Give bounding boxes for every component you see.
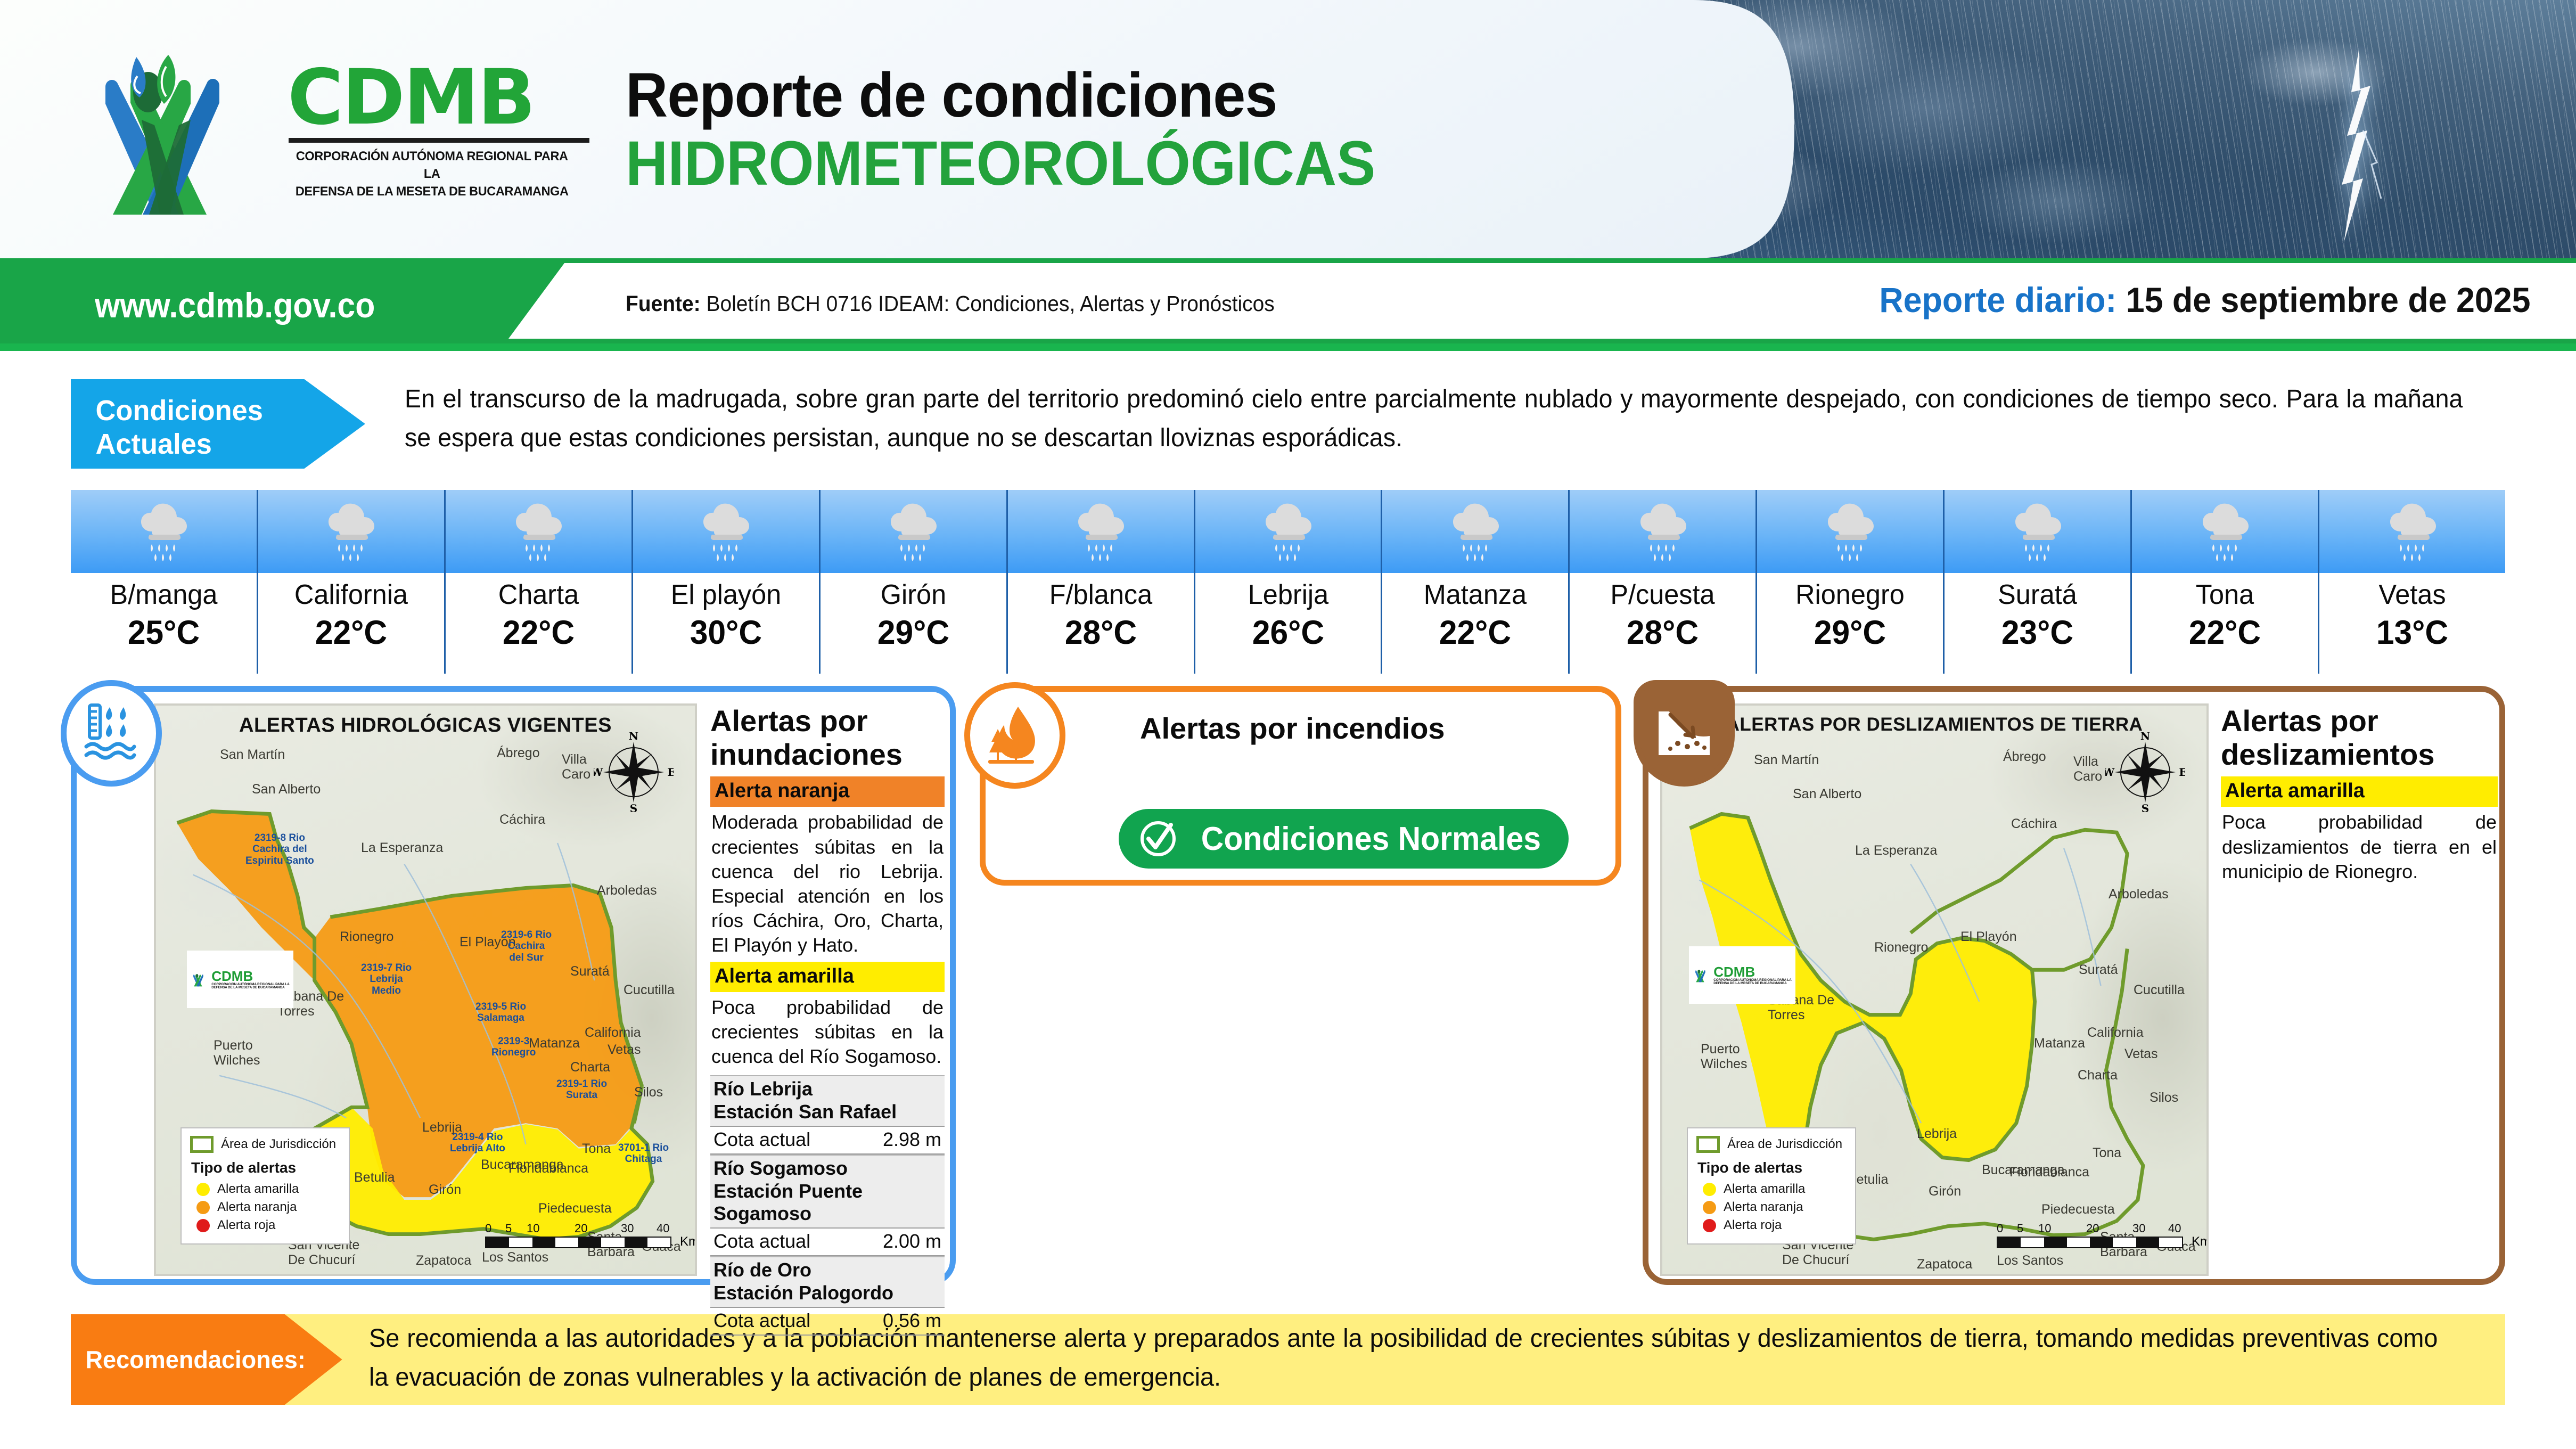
legend-dot-yellow <box>196 1183 210 1196</box>
map-city-label: Silos <box>2150 1090 2178 1106</box>
map-basin-label: 3701-1 RioChitaga <box>618 1142 669 1165</box>
station-row: Cota actual2.00 m <box>710 1227 945 1256</box>
scale-tick: 0 <box>1997 1222 2003 1235</box>
temperature-city: Lebrija <box>1198 579 1378 611</box>
map-basin-label: 2319-3Rionegro <box>491 1036 536 1059</box>
forest-fire-icon <box>985 703 1045 767</box>
map-city-label: Rionegro <box>1874 940 1928 955</box>
jurisdiction-swatch <box>1696 1136 1720 1153</box>
temperature-value: 23°C <box>1948 613 2127 652</box>
website-link[interactable]: www.cdmb.gov.co <box>95 285 375 325</box>
station-metric-value: 2.98 m <box>883 1128 941 1151</box>
temperature-city: Matanza <box>1385 579 1565 611</box>
flood-badge <box>61 680 162 787</box>
rain-cloud-icon <box>258 490 444 573</box>
logo-wordmark: CDMB <box>288 61 607 134</box>
current-conditions-text: En el transcurso de la madrugada, sobre … <box>405 380 2463 458</box>
map-city-label: Piedecuesta <box>2041 1202 2115 1217</box>
map-city-label: California <box>585 1025 641 1041</box>
scale-tick: 40 <box>657 1222 669 1235</box>
station-header: Río SogamosoEstación Puente Sogamoso <box>710 1155 945 1227</box>
rain-cloud-icon <box>2319 490 2505 573</box>
landslide-map-legend: Área de Jurisdicción Tipo de alertas Ale… <box>1687 1127 1856 1245</box>
svg-text:W: W <box>594 766 603 779</box>
landslide-alert-yellow-text: Poca probabilidad de deslizamientos de t… <box>2221 807 2498 888</box>
map-city-label: Charta <box>570 1060 610 1075</box>
legend-dot-orange <box>1703 1201 1716 1214</box>
water-level-gauge-icon <box>82 702 141 765</box>
current-conditions-tag: Condiciones Actuales <box>71 379 365 469</box>
rain-cloud-icon <box>446 490 631 573</box>
temperature-value: 22°C <box>2136 613 2314 652</box>
map-city-label: Vetas <box>608 1042 641 1058</box>
map-city-label: Arboledas <box>2109 887 2169 902</box>
map-city-label: Piedecuesta <box>538 1201 612 1216</box>
report-date-block: Reporte diario: 15 de septiembre de 2025 <box>1880 280 2531 320</box>
current-conditions-tag-line2: Actuales <box>96 428 365 461</box>
svg-text:E: E <box>2179 766 2185 779</box>
svg-text:S: S <box>630 802 637 812</box>
map-city-label: Charta <box>2078 1068 2118 1083</box>
temperature-value: 26°C <box>1199 613 1377 652</box>
map-city-label: Lebrija <box>1917 1126 1957 1142</box>
temperature-cell-gir-n: Girón29°C <box>819 490 1006 674</box>
temperature-cell-tona: Tona22°C <box>2130 490 2318 674</box>
temperature-cell-lebrija: Lebrija26°C <box>1194 490 1381 674</box>
map-basin-label: 2319-5 RioSalamaga <box>475 1001 526 1024</box>
temperature-city: Girón <box>823 579 1003 611</box>
landslide-map-scale: 0 5 10 20 30 40 Km <box>1997 1222 2183 1248</box>
station-metric-label: Cota actual <box>713 1309 810 1332</box>
station-metric-value: 2.00 m <box>883 1230 941 1252</box>
temperature-city: Charta <box>448 579 628 611</box>
current-conditions-section: Condiciones Actuales En el transcurso de… <box>0 373 2576 477</box>
map-city-label: Ábrego <box>497 746 540 761</box>
map-city-label: Arboledas <box>597 883 657 898</box>
legend-heading: Tipo de alertas <box>191 1159 340 1176</box>
legend-heading: Tipo de alertas <box>1697 1159 1847 1176</box>
fire-status-label: Condiciones Normales <box>1201 820 1541 858</box>
scale-unit: Km <box>680 1234 697 1249</box>
landslide-alert-yellow-label: Alerta amarilla <box>2221 776 2498 807</box>
station-row: Cota actual2.98 m <box>710 1126 945 1155</box>
legend-dot-orange <box>196 1201 210 1214</box>
cdmb-logo-mark-icon <box>1693 963 1711 987</box>
station-header: Río LebrijaEstación San Rafael <box>710 1075 945 1126</box>
flood-map-legend: Área de Jurisdicción Tipo de alertas Ale… <box>181 1127 350 1245</box>
cdmb-logo-mark-icon <box>191 968 209 991</box>
map-city-label: Girón <box>429 1182 461 1198</box>
svg-text:W: W <box>2105 766 2115 779</box>
scale-tick: 20 <box>2086 1222 2099 1235</box>
map-city-label: El Playón <box>1960 929 2017 945</box>
temperature-cell-california: California22°C <box>257 490 444 674</box>
fire-alerts-title: Alertas por incendios <box>1140 712 1445 746</box>
map-city-label: Matanza <box>2034 1036 2085 1051</box>
station-row: Cota actual0.56 m <box>710 1307 945 1336</box>
flood-alert-orange-text: Moderada probabilidad de crecientes súbi… <box>710 807 945 961</box>
temperature-cell-charta: Charta22°C <box>444 490 631 674</box>
temperature-value: 22°C <box>262 613 440 652</box>
temperature-value: 28°C <box>1012 613 1190 652</box>
temperature-city: El playón <box>636 579 816 611</box>
temperature-cell-rionegro: Rionegro29°C <box>1755 490 1943 674</box>
compass-rose-icon: N S E W <box>594 732 674 812</box>
scale-unit: Km <box>2192 1234 2209 1249</box>
river-station-table: Río LebrijaEstación San RafaelCota actua… <box>710 1075 945 1336</box>
scale-tick: 5 <box>505 1222 512 1235</box>
recommendations-section: Recomendaciones: Se recomienda a las aut… <box>71 1314 2505 1405</box>
map-city-label: Ábrego <box>2003 749 2046 765</box>
recommendations-text: Se recomienda a las autoridades y a la p… <box>369 1320 2438 1397</box>
rain-cloud-icon <box>633 490 819 573</box>
map-city-label: La Esperanza <box>361 840 443 856</box>
scale-tick: 30 <box>2132 1222 2145 1235</box>
fire-alerts-panel: Alertas por incendios Condiciones Normal… <box>980 686 1621 886</box>
jurisdiction-swatch <box>190 1136 214 1153</box>
scale-tick: 10 <box>527 1222 539 1235</box>
map-basin-label: 2319-8 RioCachira delEspiritu Santo <box>245 832 314 866</box>
map-city-label: Los Santos <box>482 1250 548 1265</box>
landslide-alerts-text-column: Alertas por deslizamientos Alerta amaril… <box>2221 705 2498 888</box>
map-city-label: VillaCaro <box>2073 755 2102 784</box>
map-city-label: Floridablanca <box>2009 1165 2089 1180</box>
map-city-label: Floridablanca <box>508 1161 588 1176</box>
cdmb-logo: CDMB CORPORACIÓN AUTÓNOMA REGIONAL PARA … <box>75 45 607 221</box>
map-city-label: Tona <box>582 1141 611 1157</box>
flood-alerts-text-column: Alertas por inundaciones Alerta naranja … <box>710 705 945 1336</box>
temperature-cell-p-cuesta: P/cuesta28°C <box>1568 490 1755 674</box>
map-basin-label: 2319-1 RioSurata <box>556 1078 607 1101</box>
legend-item-label: Alerta naranja <box>1724 1200 1803 1215</box>
source-text: Fuente: Boletín BCH 0716 IDEAM: Condicio… <box>626 291 1275 316</box>
rain-cloud-icon <box>2132 490 2318 573</box>
temperature-city: Rionegro <box>1760 579 1940 611</box>
map-city-label: Cáchira <box>2011 816 2057 832</box>
title-line-2: HIDROMETEOROLÓGICAS <box>626 130 1375 197</box>
logo-subtitle-line2: DEFENSA DE LA MESETA DE BUCARAMANGA <box>288 183 576 200</box>
map-city-label: San Alberto <box>1793 787 1861 802</box>
legend-dot-yellow <box>1703 1183 1716 1196</box>
landslide-map[interactable]: ALERTAS POR DESLIZAMIENTOS DE TIERRA <box>1660 703 2209 1276</box>
page-title: Reporte de condiciones HIDROMETEOROLÓGIC… <box>626 64 1432 197</box>
source-value: Boletín BCH 0716 IDEAM: Condiciones, Ale… <box>706 291 1274 316</box>
map-city-label: Suratá <box>2079 962 2118 978</box>
flood-map[interactable]: ALERTAS HIDROLÓGICAS VIGENTES <box>154 703 697 1276</box>
report-header: CDMB CORPORACIÓN AUTÓNOMA REGIONAL PARA … <box>0 0 2576 258</box>
map-city-label: Girón <box>1929 1184 1961 1199</box>
logo-subtitle-line1: CORPORACIÓN AUTÓNOMA REGIONAL PARA LA <box>288 148 576 183</box>
scale-tick: 40 <box>2168 1222 2181 1235</box>
landslide-alerts-title: Alertas por deslizamientos <box>2221 705 2498 771</box>
map-cdmb-text: CDMBCORPORACIÓN AUTÓNOMA REGIONAL PARA L… <box>1713 965 1792 986</box>
map-city-label: PuertoWilches <box>214 1038 260 1068</box>
info-bar-underline <box>0 343 2576 351</box>
station-river: Río de Oro <box>713 1259 941 1281</box>
landslide-alerts-panel: ALERTAS POR DESLIZAMIENTOS DE TIERRA <box>1643 686 2505 1285</box>
svg-text:N: N <box>2140 732 2150 742</box>
rain-cloud-icon <box>71 490 257 573</box>
map-city-label: San Alberto <box>252 782 321 797</box>
title-line-1: Reporte de condiciones <box>626 64 1375 127</box>
scale-tick: 10 <box>2038 1222 2051 1235</box>
station-river: Río Lebrija <box>713 1078 941 1100</box>
temperature-value: 13°C <box>2323 613 2501 652</box>
flood-alerts-title: Alertas por inundaciones <box>710 705 945 771</box>
flood-alert-orange-label: Alerta naranja <box>710 776 945 807</box>
report-date-value: 15 de septiembre de 2025 <box>2126 280 2531 320</box>
legend-item-label: Alerta amarilla <box>1724 1182 1805 1197</box>
landslide-icon <box>1654 704 1714 763</box>
temperature-value: 22°C <box>1386 613 1564 652</box>
map-city-label: Betulia <box>354 1170 395 1185</box>
legend-dot-red <box>196 1219 210 1232</box>
map-cdmb-watermark: CDMBCORPORACIÓN AUTÓNOMA REGIONAL PARA L… <box>187 951 293 1008</box>
fire-badge <box>964 682 1065 789</box>
map-city-label: San Martín <box>1754 752 1819 768</box>
map-city-label: Zapatoca <box>416 1253 471 1268</box>
map-city-label: Cucutilla <box>624 983 675 998</box>
temperature-cell-el-play-n: El playón30°C <box>631 490 819 674</box>
map-city-label: Vetas <box>2124 1046 2158 1062</box>
station-metric-label: Cota actual <box>713 1128 810 1151</box>
rain-cloud-icon <box>1195 490 1381 573</box>
temperature-value: 22°C <box>449 613 628 652</box>
temperature-value: 29°C <box>1761 613 1939 652</box>
current-conditions-tag-line1: Condiciones <box>96 394 365 428</box>
map-basin-label: 2319-6 RioCachiradel Sur <box>501 929 552 963</box>
landslide-badge <box>1634 680 1735 787</box>
rain-cloud-icon <box>821 490 1006 573</box>
map-city-label: La Esperanza <box>1855 843 1937 858</box>
info-bar: www.cdmb.gov.co Fuente: Boletín BCH 0716… <box>0 258 2576 343</box>
legend-item-label: Alerta naranja <box>217 1200 297 1215</box>
temperature-strip: B/manga25°C California22°C Charta22°C El… <box>71 490 2505 674</box>
map-cdmb-text: CDMBCORPORACIÓN AUTÓNOMA REGIONAL PARA L… <box>211 969 290 990</box>
temperature-city: Vetas <box>2322 579 2502 611</box>
map-city-label: PuertoWilches <box>1701 1042 1748 1071</box>
map-basin-label: 2319-4 RioLebrija Alto <box>450 1132 505 1155</box>
flood-alert-yellow-label: Alerta amarilla <box>710 962 945 992</box>
source-label: Fuente: <box>626 291 701 316</box>
map-city-label: Matanza <box>529 1036 580 1051</box>
temperature-cell-f-blanca: F/blanca28°C <box>1006 490 1194 674</box>
svg-text:E: E <box>667 766 674 779</box>
temperature-cell-b-manga: B/manga25°C <box>71 490 257 674</box>
temperature-city: B/manga <box>73 579 253 611</box>
flood-map-scale: 0 5 10 20 30 40 Km <box>485 1222 671 1248</box>
temperature-value: 30°C <box>637 613 815 652</box>
scale-tick: 0 <box>485 1222 491 1235</box>
station-name: Estación Palogordo <box>713 1282 941 1304</box>
station-name: Estación Puente Sogamoso <box>713 1180 941 1225</box>
map-city-label: Cáchira <box>499 812 545 828</box>
temperature-city: Tona <box>2135 579 2315 611</box>
scale-tick: 30 <box>621 1222 634 1235</box>
report-date-label: Reporte diario: <box>1880 280 2117 320</box>
legend-item-label: Alerta roja <box>1724 1218 1782 1233</box>
scale-tick: 20 <box>575 1222 587 1235</box>
rain-cloud-icon <box>1757 490 1943 573</box>
temperature-city: California <box>261 579 441 611</box>
map-city-label: Tona <box>2093 1145 2121 1161</box>
temperature-city: Suratá <box>1947 579 2127 611</box>
temperature-value: 25°C <box>75 613 253 652</box>
map-city-label: Silos <box>634 1085 663 1100</box>
rain-cloud-icon <box>1945 490 2130 573</box>
rain-cloud-icon <box>1382 490 1568 573</box>
flood-alerts-panel: ALERTAS HIDROLÓGICAS VIGENTES <box>71 686 956 1285</box>
map-city-label: Suratá <box>570 964 610 979</box>
scale-tick: 5 <box>2017 1222 2023 1235</box>
fire-status-badge: Condiciones Normales <box>1119 809 1569 869</box>
legend-dot-red <box>1703 1219 1716 1232</box>
map-cdmb-watermark: CDMBCORPORACIÓN AUTÓNOMA REGIONAL PARA L… <box>1689 946 1795 1004</box>
svg-text:S: S <box>2142 802 2149 812</box>
map-city-label: San Martín <box>220 747 285 763</box>
svg-text:N: N <box>629 732 638 742</box>
temperature-cell-surat-: Suratá23°C <box>1943 490 2130 674</box>
recommendations-tag: Recomendaciones: <box>71 1314 342 1405</box>
legend-jurisdiction-label: Área de Jurisdicción <box>221 1137 336 1152</box>
station-metric-value: 0.56 m <box>883 1309 941 1332</box>
rain-cloud-icon <box>1570 490 1755 573</box>
station-metric-label: Cota actual <box>713 1230 810 1252</box>
map-city-label: Cucutilla <box>2134 983 2185 998</box>
map-city-label: Los Santos <box>1997 1253 2063 1268</box>
map-city-label: Zapatoca <box>1917 1257 1972 1272</box>
legend-jurisdiction-label: Área de Jurisdicción <box>1727 1137 1842 1152</box>
temperature-city: P/cuesta <box>1573 579 1753 611</box>
temperature-value: 29°C <box>824 613 1003 652</box>
map-city-label: California <box>2087 1025 2144 1041</box>
map-city-label: Rionegro <box>340 929 393 945</box>
temperature-cell-vetas: Vetas13°C <box>2318 490 2505 674</box>
temperature-city: F/blanca <box>1011 579 1191 611</box>
compass-rose-icon: N S E W <box>2105 732 2185 812</box>
legend-item-label: Alerta amarilla <box>217 1182 299 1197</box>
station-river: Río Sogamoso <box>713 1157 941 1180</box>
temperature-value: 28°C <box>1573 613 1752 652</box>
check-circle-icon <box>1138 818 1178 859</box>
cdmb-logo-mark-icon <box>75 45 282 221</box>
flood-alert-yellow-text: Poca probabilidad de crecientes súbitas … <box>710 992 945 1073</box>
station-header: Río de OroEstación Palogordo <box>710 1256 945 1307</box>
map-city-label: VillaCaro <box>562 752 590 782</box>
map-basin-label: 2319-7 RioLebrijaMedio <box>361 962 412 996</box>
legend-item-label: Alerta roja <box>217 1218 275 1233</box>
rain-cloud-icon <box>1008 490 1194 573</box>
temperature-cell-matanza: Matanza22°C <box>1381 490 1568 674</box>
station-name: Estación San Rafael <box>713 1101 941 1123</box>
